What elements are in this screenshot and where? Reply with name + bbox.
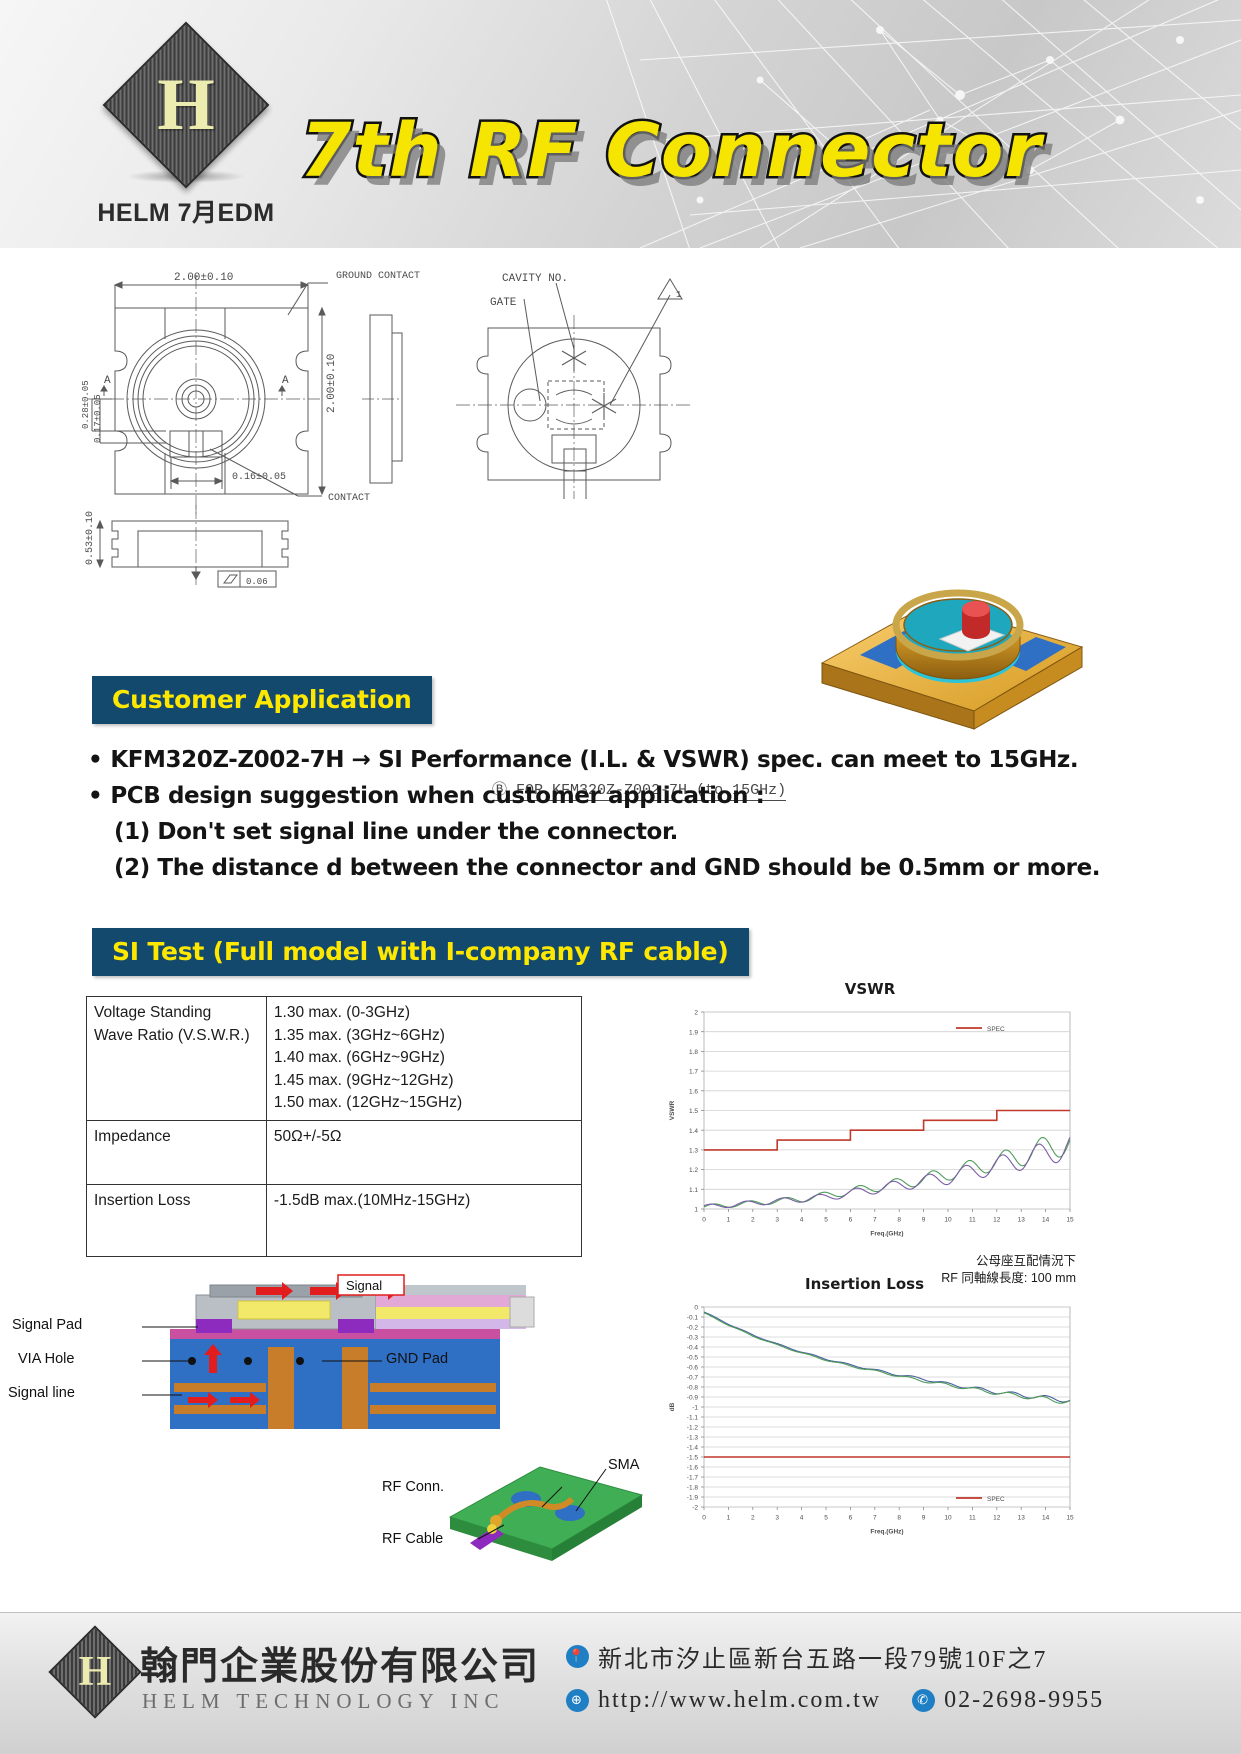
svg-text:9: 9 — [922, 1515, 926, 1522]
section-title-si-test: SI Test (Full model with I-company RF ca… — [92, 928, 749, 976]
svg-text:1.4: 1.4 — [689, 1128, 698, 1135]
table-cell-value: 1.30 max. (0-3GHz) 1.35 max. (3GHz~6GHz)… — [266, 997, 581, 1121]
phone-icon: ✆ — [912, 1689, 935, 1712]
logo-diamond-icon: H — [103, 22, 270, 189]
svg-text:SPEC: SPEC — [987, 1026, 1005, 1033]
drawing-cavity-gate-view: CAVITY NO. GATE 1 — [452, 253, 732, 533]
pcb-label-signal-pad: Signal Pad — [12, 1317, 82, 1333]
section-title-customer-application: Customer Application — [92, 676, 432, 724]
svg-text:11: 11 — [969, 1515, 976, 1522]
svg-text:6: 6 — [849, 1515, 853, 1522]
svg-text:VSWR: VSWR — [669, 1100, 676, 1120]
svg-text:2: 2 — [694, 1010, 698, 1017]
svg-text:9: 9 — [922, 1217, 926, 1224]
svg-text:-0.2: -0.2 — [687, 1325, 699, 1332]
value-line: 1.35 max. (3GHz~6GHz) — [274, 1025, 574, 1048]
svg-text:15: 15 — [1066, 1217, 1074, 1224]
svg-text:13: 13 — [1018, 1217, 1026, 1224]
value-line: 1.50 max. (12GHz~15GHz) — [274, 1092, 574, 1115]
svg-text:10: 10 — [944, 1515, 952, 1522]
bullet-marker: • — [88, 783, 102, 809]
svg-text:Freq.(GHz): Freq.(GHz) — [870, 1231, 903, 1238]
svg-text:0: 0 — [694, 1305, 698, 1312]
footer-website[interactable]: http://www.helm.com.tw — [598, 1687, 881, 1714]
table-cell-value: -1.5dB max.(10MHz-15GHz) — [266, 1184, 581, 1256]
svg-text:1.5: 1.5 — [689, 1108, 698, 1115]
svg-text:1.8: 1.8 — [689, 1049, 698, 1056]
svg-text:7: 7 — [873, 1217, 877, 1224]
si-test-section-header: SI Test (Full model with I-company RF ca… — [92, 928, 749, 976]
svg-text:-0.8: -0.8 — [687, 1385, 699, 1392]
svg-text:-0.1: -0.1 — [687, 1315, 699, 1322]
logo-caption: HELM 7月EDM — [96, 193, 276, 229]
svg-text:SPEC: SPEC — [987, 1496, 1005, 1503]
svg-text:11: 11 — [969, 1217, 976, 1224]
insertion-loss-note: 公母座互配情況下 RF 同軸線長度: 100 mm — [941, 1253, 1076, 1287]
pcb-label-signal-line: Signal line — [8, 1385, 75, 1401]
page-footer: H 翰門企業股份有限公司 HELM TECHNOLOGY INC 📍 新北市汐止… — [0, 1612, 1241, 1754]
svg-text:-0.3: -0.3 — [687, 1335, 699, 1342]
dim-side-height: 0.53±0.10 — [85, 511, 96, 565]
svg-text:8: 8 — [897, 1515, 901, 1522]
sma-board-svg — [430, 1425, 680, 1575]
table-cell-label: Insertion Loss — [87, 1184, 267, 1256]
page-header: H HELM 7月EDM 7th RF Connector — [0, 0, 1241, 248]
svg-text:4: 4 — [800, 1217, 804, 1224]
svg-text:-1.5: -1.5 — [687, 1455, 699, 1462]
svg-text:5: 5 — [824, 1217, 828, 1224]
dim-bottom: 0.16±0.05 — [232, 472, 286, 483]
label-contact: CONTACT — [328, 493, 370, 504]
footer-company-cn: 翰門企業股份有限公司 — [140, 1635, 540, 1690]
section-arrow-a-left: A — [104, 375, 111, 387]
svg-text:1: 1 — [694, 1207, 698, 1214]
bullet-text: (1) Don't set signal line under the conn… — [114, 819, 678, 845]
footer-logo-icon: H — [48, 1625, 141, 1718]
rf-conn-label: RF Conn. — [382, 1479, 444, 1495]
table-cell-value: 50Ω+/-5Ω — [266, 1120, 581, 1184]
sma-label: SMA — [608, 1457, 639, 1473]
note-line: 公母座互配情況下 — [941, 1253, 1076, 1270]
bullet-text: PCB design suggestion when customer appl… — [110, 783, 764, 809]
svg-text:-1.6: -1.6 — [687, 1465, 699, 1472]
customer-application-section-header: Customer Application — [92, 676, 432, 724]
svg-text:15: 15 — [1066, 1515, 1074, 1522]
dim-left-2: 0.17±0.05 — [93, 394, 103, 443]
bullet-item: (1) Don't set signal line under the conn… — [88, 814, 1168, 850]
svg-text:1.9: 1.9 — [689, 1029, 698, 1036]
label-line: Voltage Standing — [94, 1002, 259, 1025]
svg-text:2: 2 — [751, 1217, 755, 1224]
sma-board-diagram: SMA RF Conn. RF Cable — [430, 1425, 680, 1580]
svg-text:-1.9: -1.9 — [687, 1495, 699, 1502]
svg-text:-0.7: -0.7 — [687, 1375, 699, 1382]
svg-text:4: 4 — [800, 1515, 804, 1522]
insertion-loss-chart: Insertion Loss 公母座互配情況下 RF 同軸線長度: 100 mm… — [660, 1275, 1080, 1548]
svg-text:1.1: 1.1 — [689, 1187, 698, 1194]
drawing-dimensional-views: 2.00±0.10 GROUND CONTACT CONTACT 0.16±0.… — [70, 253, 450, 593]
table-row: Voltage Standing Wave Ratio (V.S.W.R.) 1… — [87, 997, 582, 1121]
pcb-label-gnd-pad: GND Pad — [386, 1351, 448, 1367]
footer-phone: 02-2698-9955 — [944, 1687, 1104, 1714]
rf-cable-label: RF Cable — [382, 1531, 443, 1547]
footer-address: 新北市汐止區新台五路一段79號10F之7 — [598, 1639, 1047, 1674]
bullet-item: •PCB design suggestion when customer app… — [88, 778, 1168, 814]
pcb-label-signal: Signal — [346, 1278, 382, 1293]
table-row: Impedance 50Ω+/-5Ω — [87, 1120, 582, 1184]
label-ground-contact: GROUND CONTACT — [336, 271, 420, 282]
flatness-value: 0.06 — [246, 577, 268, 587]
table-cell-label: Impedance — [87, 1120, 267, 1184]
svg-text:-1.3: -1.3 — [687, 1435, 699, 1442]
svg-text:0: 0 — [702, 1515, 706, 1522]
svg-text:13: 13 — [1018, 1515, 1026, 1522]
svg-text:-0.9: -0.9 — [687, 1395, 699, 1402]
svg-text:2: 2 — [751, 1515, 755, 1522]
svg-text:dB: dB — [669, 1402, 676, 1411]
svg-text:-0.4: -0.4 — [687, 1345, 699, 1352]
svg-text:7: 7 — [873, 1515, 877, 1522]
svg-text:14: 14 — [1042, 1515, 1050, 1522]
bullet-item: (2) The distance d between the connector… — [88, 850, 1168, 886]
svg-text:-1.8: -1.8 — [687, 1485, 699, 1492]
bullet-marker: • — [88, 747, 102, 773]
svg-text:-0.5: -0.5 — [687, 1355, 699, 1362]
label-cavity-no: CAVITY NO. — [502, 273, 568, 285]
pcb-label-via-hole: VIA Hole — [18, 1351, 74, 1367]
svg-text:1.7: 1.7 — [689, 1069, 698, 1076]
svg-text:3: 3 — [775, 1217, 779, 1224]
svg-text:1: 1 — [727, 1515, 731, 1522]
label-gate: GATE — [490, 297, 517, 309]
footer-company-en: HELM TECHNOLOGY INC — [142, 1689, 504, 1714]
value-line: 1.45 max. (9GHz~12GHz) — [274, 1070, 574, 1093]
logo-letter: H — [129, 48, 243, 162]
connector-3d-render — [800, 543, 1100, 733]
warning-mark: 1 — [676, 290, 681, 300]
dim-right: 2.00±0.10 — [326, 354, 338, 413]
svg-text:1.6: 1.6 — [689, 1088, 698, 1095]
svg-text:Freq.(GHz): Freq.(GHz) — [870, 1529, 903, 1536]
technical-drawings: 2.00±0.10 GROUND CONTACT CONTACT 0.16±0.… — [0, 248, 1241, 598]
label-line: Wave Ratio (V.S.W.R.) — [94, 1025, 259, 1048]
footer-address-line: 📍 新北市汐止區新台五路一段79號10F之7 — [566, 1639, 1047, 1674]
svg-text:-1.2: -1.2 — [687, 1425, 699, 1432]
value-line: 1.40 max. (6GHz~9GHz) — [274, 1047, 574, 1070]
svg-text:5: 5 — [824, 1515, 828, 1522]
footer-contact-line: ⊕ http://www.helm.com.tw ✆ 02-2698-9955 — [566, 1687, 1104, 1714]
svg-text:10: 10 — [944, 1217, 952, 1224]
svg-text:14: 14 — [1042, 1217, 1050, 1224]
value-line: 1.30 max. (0-3GHz) — [274, 1002, 574, 1025]
vswr-chart-plot: 11.11.21.31.41.51.61.71.81.9201234567891… — [660, 998, 1080, 1243]
svg-text:1: 1 — [727, 1217, 731, 1224]
svg-text:6: 6 — [849, 1217, 853, 1224]
insertion-loss-chart-plot: 0-0.1-0.2-0.3-0.4-0.5-0.6-0.7-0.8-0.9-1-… — [660, 1293, 1080, 1543]
bullet-text: (2) The distance d between the connector… — [114, 855, 1100, 881]
svg-text:-2: -2 — [692, 1505, 698, 1512]
vswr-chart: VSWR 11.11.21.31.41.51.61.71.81.92012345… — [660, 980, 1080, 1248]
si-spec-table: Voltage Standing Wave Ratio (V.S.W.R.) 1… — [86, 996, 582, 1257]
bullet-text: KFM320Z-Z002-7H → SI Performance (I.L. &… — [110, 747, 1078, 773]
note-line: RF 同軸線長度: 100 mm — [941, 1270, 1076, 1287]
vswr-chart-title: VSWR — [660, 980, 1080, 998]
page-title: 7th RF Connector — [300, 108, 1042, 194]
dim-top: 2.00±0.10 — [174, 272, 233, 284]
svg-text:3: 3 — [775, 1515, 779, 1522]
svg-text:12: 12 — [993, 1217, 1001, 1224]
section-arrow-a-right: A — [282, 375, 289, 387]
svg-text:1.2: 1.2 — [689, 1167, 698, 1174]
footer-logo-letter: H — [64, 1641, 126, 1703]
svg-text:0: 0 — [702, 1217, 706, 1224]
helm-logo: H HELM 7月EDM — [96, 46, 276, 229]
svg-text:-1.1: -1.1 — [687, 1415, 699, 1422]
table-row: Insertion Loss -1.5dB max.(10MHz-15GHz) — [87, 1184, 582, 1256]
svg-text:8: 8 — [897, 1217, 901, 1224]
svg-text:-1.7: -1.7 — [687, 1475, 699, 1482]
svg-text:-1.4: -1.4 — [687, 1445, 699, 1452]
svg-text:12: 12 — [993, 1515, 1001, 1522]
svg-text:-0.6: -0.6 — [687, 1365, 699, 1372]
bullet-item: •KFM320Z-Z002-7H → SI Performance (I.L. … — [88, 742, 1168, 778]
globe-icon: ⊕ — [566, 1689, 589, 1712]
table-cell-label: Voltage Standing Wave Ratio (V.S.W.R.) — [87, 997, 267, 1121]
pin-icon: 📍 — [566, 1645, 589, 1668]
customer-application-bullets: •KFM320Z-Z002-7H → SI Performance (I.L. … — [88, 742, 1168, 886]
svg-text:1.3: 1.3 — [689, 1148, 698, 1155]
dim-left-1: 0.28±0.05 — [81, 380, 91, 429]
svg-text:-1: -1 — [692, 1405, 698, 1412]
